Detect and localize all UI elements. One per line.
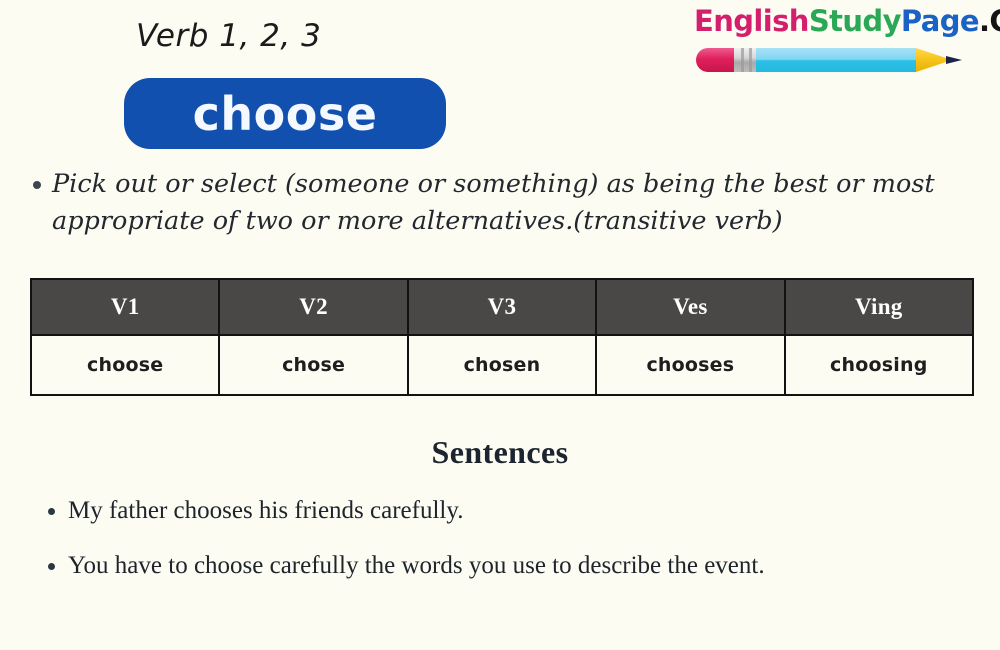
- page-header: Verb 1, 2, 3 choose EnglishStudyPage.Com: [0, 0, 1000, 160]
- verb-pill-badge: choose: [124, 78, 446, 149]
- verb-forms-table: V1 V2 V3 Ves Ving choose chose chosen ch…: [30, 278, 974, 396]
- table-header-row: V1 V2 V3 Ves Ving: [31, 279, 973, 335]
- table-cell-ves: chooses: [596, 335, 784, 395]
- logo-part-com: .Com: [979, 4, 1000, 38]
- table-header-v3: V3: [408, 279, 596, 335]
- sentence-item: My father chooses his friends carefully.: [0, 498, 1000, 523]
- table-header-ving: Ving: [785, 279, 973, 335]
- sentences-list: My father chooses his friends carefully.…: [0, 498, 1000, 608]
- table-cell-ving: choosing: [785, 335, 973, 395]
- table-header-ves: Ves: [596, 279, 784, 335]
- table-header-v2: V2: [219, 279, 407, 335]
- sentences-heading: Sentences: [0, 434, 1000, 471]
- table-cell-v2: chose: [219, 335, 407, 395]
- page-eyebrow-title: Verb 1, 2, 3: [136, 18, 321, 54]
- sentence-item: You have to choose carefully the words y…: [0, 553, 1000, 578]
- logo-part-page: Page: [901, 4, 979, 38]
- table-header-v1: V1: [31, 279, 219, 335]
- table-row: choose chose chosen chooses choosing: [31, 335, 973, 395]
- site-logo: EnglishStudyPage.Com: [694, 6, 984, 78]
- site-logo-text: EnglishStudyPage.Com: [694, 6, 984, 36]
- logo-part-english: English: [694, 4, 809, 38]
- table-cell-v3: chosen: [408, 335, 596, 395]
- definition-list: Pick out or select (someone or something…: [0, 166, 1000, 240]
- verb-pill-label: choose: [193, 91, 378, 137]
- pencil-icon: [694, 42, 984, 78]
- logo-part-study: Study: [809, 4, 901, 38]
- definition-item: Pick out or select (someone or something…: [0, 166, 1000, 240]
- table-cell-v1: choose: [31, 335, 219, 395]
